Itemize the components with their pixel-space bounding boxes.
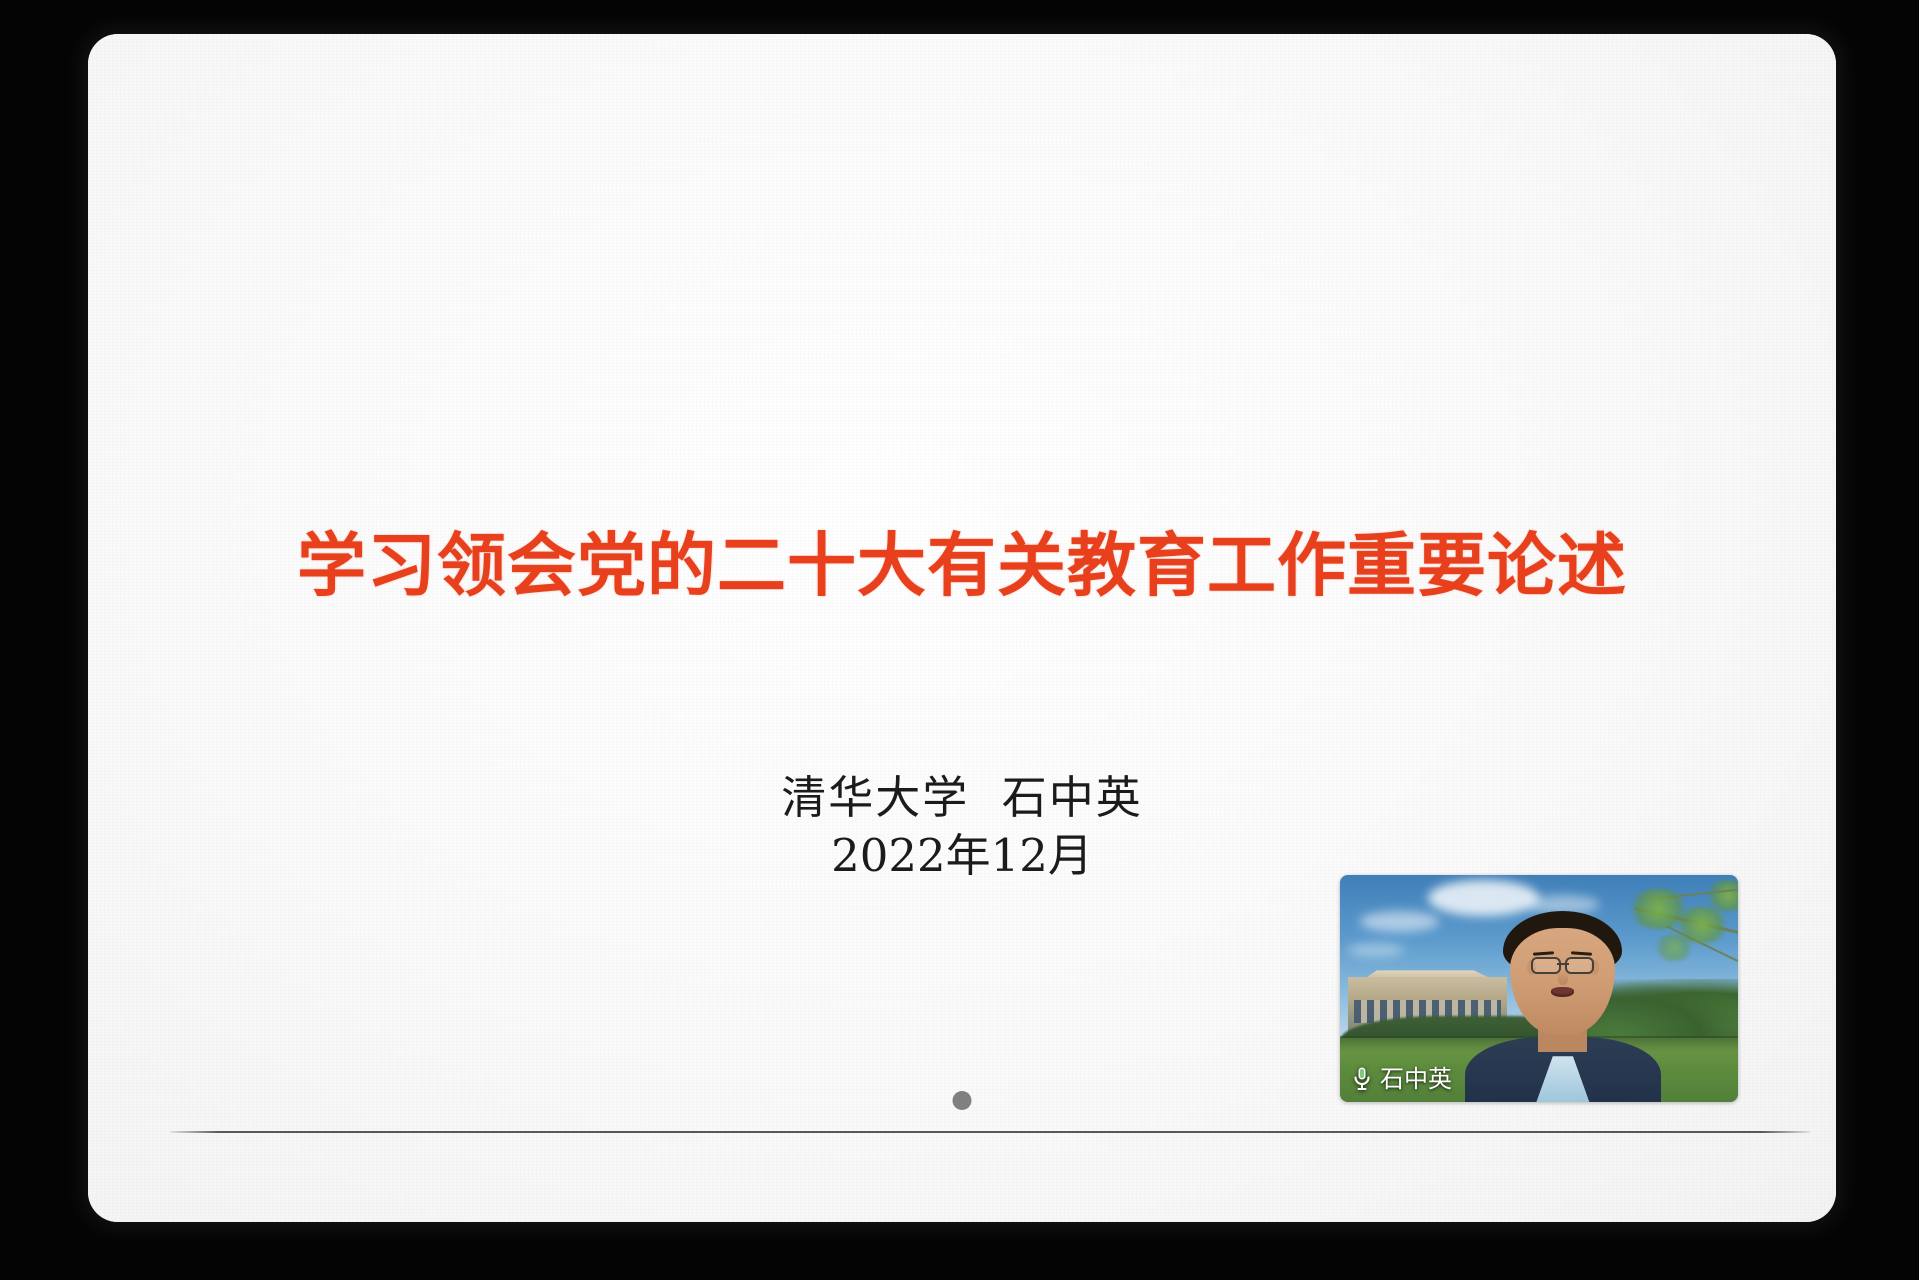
slide-indicator-dot[interactable] [953,1091,972,1110]
participant-name-label: 石中英 [1380,1067,1452,1091]
mouth [1551,987,1574,997]
slide-panel[interactable]: 学习领会党的二十大有关教育工作重要论述 清华大学 石中英 2022年12月 [88,34,1836,1222]
lens [1565,957,1594,974]
cloud-shape [1348,943,1404,957]
slide-subtitle-author: 清华大学 石中英 [88,769,1836,827]
microphone-icon[interactable] [1352,1066,1372,1092]
cloud-shape [1360,911,1440,931]
face [1510,928,1615,1035]
participant-nameplate: 石中英 [1350,1064,1458,1094]
slide-subtitle-block: 清华大学 石中英 2022年12月 [88,769,1836,884]
participant-figure [1475,911,1650,1102]
participant-video-tile[interactable]: 石中英 [1340,875,1738,1102]
eyebrow [1571,951,1592,955]
eyeglasses [1531,957,1594,970]
lens [1531,957,1560,974]
screen-root: 学习领会党的二十大有关教育工作重要论述 清华大学 石中英 2022年12月 [0,0,1919,1280]
slide-bottom-rule [170,1131,1810,1133]
glasses-bridge [1557,963,1570,965]
nose [1558,971,1569,985]
eyebrow [1533,951,1554,955]
slide-title: 学习领会党的二十大有关教育工作重要论述 [88,530,1836,602]
